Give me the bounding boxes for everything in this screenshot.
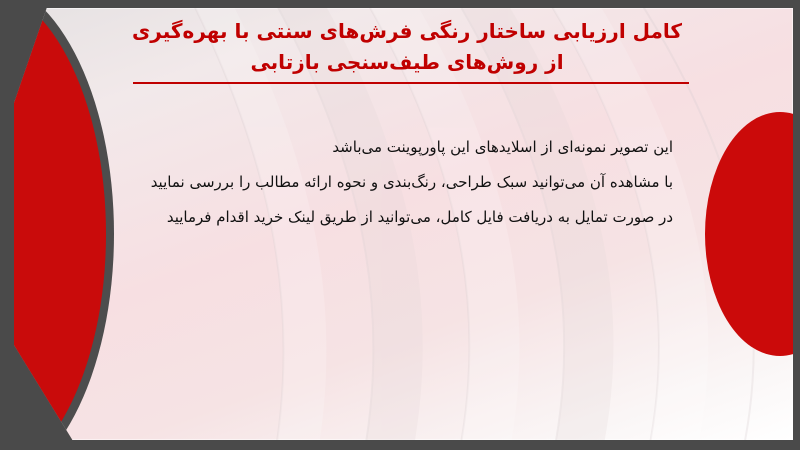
slide-body-text: این تصویر نمونه‌ای از اسلایدهای این پاور…	[113, 130, 673, 235]
presentation-slide: کامل ارزیابی ساختار رنگی فرش‌های سنتی با…	[0, 0, 800, 450]
slide-title-line-1: کامل ارزیابی ساختار رنگی فرش‌های سنتی با…	[117, 16, 697, 47]
body-line-2: با مشاهده آن می‌توانید سبک طراحی، رنگ‌بن…	[113, 165, 673, 200]
body-line-3: در صورت تمایل به دریافت فایل کامل، می‌تو…	[113, 200, 673, 235]
slide-content-panel: کامل ارزیابی ساختار رنگی فرش‌های سنتی با…	[14, 8, 793, 440]
body-line-1: این تصویر نمونه‌ای از اسلایدهای این پاور…	[113, 130, 673, 165]
slide-title: کامل ارزیابی ساختار رنگی فرش‌های سنتی با…	[117, 16, 697, 78]
slide-title-line-2: از روش‌های طیف‌سنجی بازتابی	[117, 47, 697, 78]
title-underline-rule	[133, 82, 689, 84]
